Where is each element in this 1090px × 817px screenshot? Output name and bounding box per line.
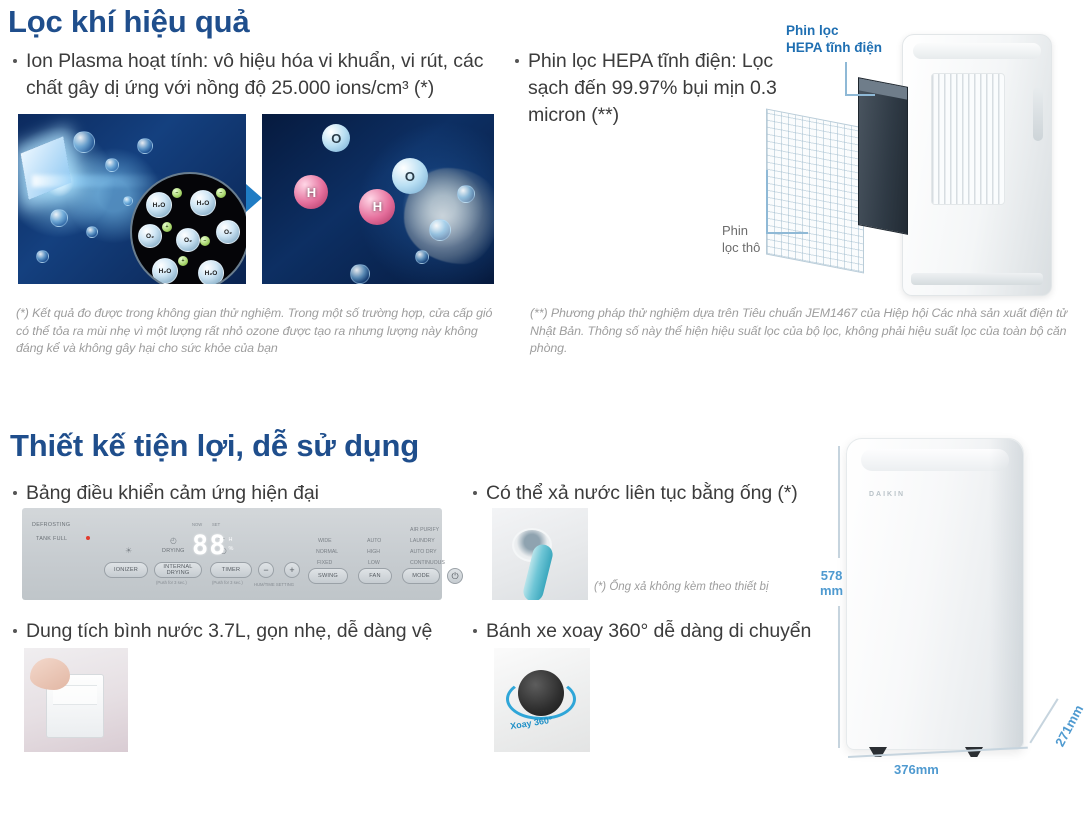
button-ionizer[interactable]: IONIZER [104, 562, 148, 578]
bullet-hepa-filter: Phin lọc HEPA tĩnh điện: Lọc sạch đến 99… [528, 48, 778, 129]
plasma-emitter-graphic [20, 136, 71, 200]
brand-logo: DAIKIN [869, 491, 905, 498]
callout-hepa-line1: Phin lọc [786, 22, 882, 39]
hepa-filter-graphic [858, 77, 908, 235]
button-internal-drying-hint: (Push for 3 sec.) [156, 580, 187, 585]
dimension-height-value: 578 [820, 568, 843, 583]
button-increase[interactable]: + [284, 562, 300, 578]
mode-option-auto-dry: AUTO DRY [410, 549, 437, 555]
bullet-dot-icon [473, 629, 477, 633]
lcd-unit-hour: H [229, 536, 234, 545]
dehumidifier-unit-main: DAIKIN [846, 438, 1024, 750]
swing-option-wide: WIDE [318, 538, 332, 544]
callout-coarse-filter: Phin lọc thô [722, 222, 760, 256]
bullet-control-panel: Bảng điều khiển cảm ứng hiện đại [26, 480, 446, 507]
bullet-dot-icon [515, 59, 519, 63]
bullet-dot-icon [473, 491, 477, 495]
callout-hepa-line2: HEPA tĩnh điện [786, 39, 882, 56]
unit-main-lid [861, 449, 1009, 471]
callout-coarse-line2: lọc thô [722, 239, 760, 256]
button-fan[interactable]: FAN [358, 568, 392, 584]
bullet-control-panel-text: Bảng điều khiển cảm ứng hiện đại [26, 482, 319, 504]
hum-time-setting-label: HUM/TIME SETTING [254, 582, 294, 587]
mode-option-air-purify: AIR PURIFY [410, 527, 439, 533]
caster-wheel-photo: Xoay 360° [494, 648, 590, 752]
bullet-continuous-drain: Có thể xả nước liên tục bằng ống (*) [486, 480, 846, 507]
unit-top-lid [913, 43, 1041, 59]
button-swing[interactable]: SWING [308, 568, 348, 584]
lcd-display: 88 H % [192, 530, 234, 560]
drying-label: DRYING [162, 548, 185, 554]
plasma-ion-photo-right: O O H H [262, 114, 494, 284]
section-title-air-filter: Lọc khí hiệu quả [8, 4, 249, 40]
fan-option-auto: AUTO [367, 538, 381, 544]
footnote-drain-hose: (*) Ống xả không kèm theo thiết bị [594, 580, 804, 595]
plasma-magnifier-graphic: H₂O H₂O O₂ O₂ O₂ H₂O H₂O − − + − + [130, 172, 246, 284]
lcd-digits: 88 [192, 532, 227, 559]
dimension-width: 376mm [894, 762, 939, 777]
indicator-led-defrosting [86, 522, 90, 526]
rotation-arrow-icon [506, 678, 576, 720]
mode-option-laundry: LAUNDRY [410, 538, 435, 544]
water-tank-photo [24, 648, 128, 752]
unit-side-vent [1033, 87, 1043, 141]
dimension-line-height-lower [838, 606, 840, 748]
lcd-label-set: SET [212, 522, 220, 527]
power-icon[interactable]: ⏻ [447, 568, 463, 584]
bullet-ion-plasma-text: Ion Plasma hoạt tính: vô hiệu hóa vi khu… [26, 50, 483, 99]
drain-hose-photo [492, 508, 588, 600]
ionizer-icon: ☀ [125, 546, 132, 555]
plasma-beam-graphic [32, 175, 164, 187]
swing-option-normal: NORMAL [316, 549, 338, 555]
button-decrease[interactable]: − [258, 562, 274, 578]
footnote-hepa-standard: (**) Phương pháp thử nghiệm dựa trên Tiê… [530, 305, 1086, 358]
bullet-caster-wheels: Bánh xe xoay 360° dễ dàng di chuyển [486, 618, 866, 645]
unit-side-shading [989, 439, 1023, 749]
drying-icon: ◴ [170, 536, 177, 545]
arrow-right-icon [246, 184, 262, 212]
dimension-height: 578 mm [820, 568, 843, 598]
wheel-rotation-caption: Xoay 360° [509, 715, 553, 732]
button-timer-hint: (Push for 3 sec.) [212, 580, 243, 585]
dimension-height-unit: mm [820, 583, 843, 598]
bullet-continuous-drain-text: Có thể xả nước liên tục bằng ống (*) [486, 482, 798, 504]
callout-leader-coarse-vertical [766, 170, 768, 232]
lcd-unit-percent: % [229, 545, 234, 554]
bullet-dot-icon [13, 59, 17, 63]
callout-hepa-filter: Phin lọc HEPA tĩnh điện [786, 22, 882, 56]
fan-option-high: HIGH [367, 549, 380, 555]
dehumidifier-unit-top [902, 34, 1052, 296]
unit-base [911, 273, 1043, 285]
dimension-depth: 271mm [1052, 702, 1086, 749]
callout-leader-hepa-vertical [845, 62, 847, 96]
product-feature-page: Lọc khí hiệu quả Ion Plasma hoạt tính: v… [0, 0, 1090, 817]
section-title-design: Thiết kế tiện lợi, dễ sử dụng [10, 428, 419, 464]
coarse-filter-graphic [766, 108, 864, 273]
indicator-led-tank-full [86, 536, 90, 540]
plasma-ion-photo-left: H₂O H₂O O₂ O₂ O₂ H₂O H₂O − − + − + [18, 114, 246, 284]
fan-option-low: LOW [368, 560, 380, 566]
control-panel-photo: DEFROSTING TANK FULL ☀ ◴ DRYING ⚊ ◴ 88 H… [22, 508, 442, 600]
mode-option-continuous: CONTINUOUS [410, 560, 445, 566]
bullet-dot-icon [13, 491, 17, 495]
button-internal-drying[interactable]: INTERNAL DRYING [154, 562, 202, 578]
swing-option-fixed: FIXED [317, 560, 332, 566]
callout-coarse-line1: Phin [722, 222, 760, 239]
hepa-filter-frame [859, 78, 907, 99]
lcd-label-now: NOW [192, 522, 202, 527]
callout-leader-coarse-horizontal [766, 232, 808, 234]
dimension-line-height-upper [838, 446, 840, 558]
indicator-label-defrosting: DEFROSTING [32, 522, 70, 528]
button-mode[interactable]: MODE [402, 568, 440, 584]
bullet-ion-plasma: Ion Plasma hoạt tính: vô hiệu hóa vi khu… [26, 48, 496, 102]
bullet-hepa-filter-text: Phin lọc HEPA tĩnh điện: Lọc sạch đến 99… [528, 50, 777, 126]
bullet-dot-icon [13, 629, 17, 633]
bullet-caster-wheels-text: Bánh xe xoay 360° dễ dàng di chuyển [486, 620, 811, 642]
button-timer[interactable]: TIMER [210, 562, 252, 578]
unit-grille [931, 73, 1005, 205]
indicator-label-tank-full: TANK FULL [36, 536, 67, 542]
callout-leader-hepa-horizontal [845, 94, 875, 96]
hand-graphic [30, 658, 70, 690]
footnote-ion-plasma: (*) Kết quả đo được trong không gian thử… [16, 305, 500, 358]
